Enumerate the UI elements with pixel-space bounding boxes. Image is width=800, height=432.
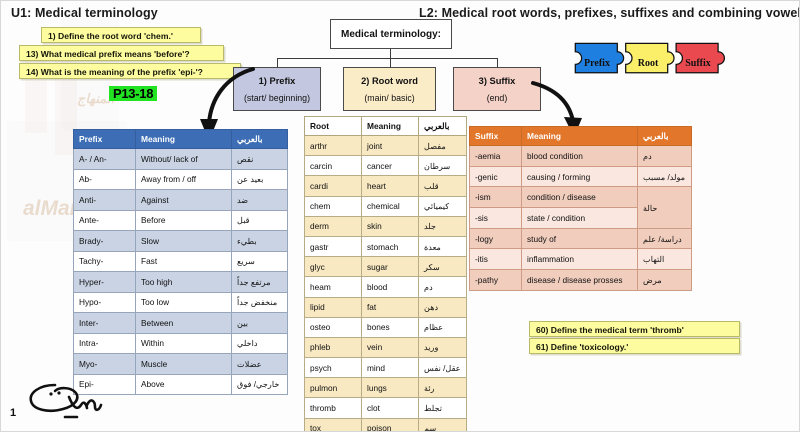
puzzle-label-root: Root xyxy=(638,58,659,69)
cell-arabic: ضد xyxy=(232,190,288,211)
prefix-table-body: A- / An-Without/ lack ofنقصAb-Away from … xyxy=(74,149,288,395)
column-header-meaning: Meaning xyxy=(362,117,419,136)
cell-meaning: study of xyxy=(522,228,638,249)
cell-arabic: خارجي/ فوق xyxy=(232,374,288,395)
cell-term: -pathy xyxy=(470,270,522,291)
cell-arabic: سريع xyxy=(232,251,288,272)
cell-term: derm xyxy=(305,216,362,236)
cell-term: carcin xyxy=(305,156,362,176)
table-row: toxpoisonسم xyxy=(305,418,467,432)
table-row: Inter-Betweenبين xyxy=(74,313,288,334)
cell-arabic: قبل xyxy=(232,210,288,231)
column-header-meaning: Meaning xyxy=(136,130,232,149)
handwritten-signature xyxy=(25,377,111,423)
table-row: Myo-Muscleعضلات xyxy=(74,354,288,375)
cell-arabic: قلب xyxy=(419,176,467,196)
puzzle-label-suffix: Suffix xyxy=(685,58,711,69)
cell-meaning: sugar xyxy=(362,257,419,277)
table-row: Tachy-Fastسريع xyxy=(74,251,288,272)
cell-meaning: heart xyxy=(362,176,419,196)
slide-canvas: alManhaj المنهاج U1: Medical terminology… xyxy=(0,0,800,432)
cell-meaning: mind xyxy=(362,358,419,378)
cell-meaning: chemical xyxy=(362,196,419,216)
table-row: Anti-Againstضد xyxy=(74,190,288,211)
column-header-arabic: بالعربي xyxy=(419,117,467,136)
column-header-prefix: Prefix xyxy=(74,130,136,149)
cell-arabic: تجلط xyxy=(419,398,467,418)
cell-term: Intra- xyxy=(74,333,136,354)
cell-term: -itis xyxy=(470,249,522,270)
table-row: Brady-Slowبطيء xyxy=(74,231,288,252)
table-header-row: Prefix Meaning بالعربي xyxy=(74,130,288,149)
table-row: -pathydisease / disease prossesمرض xyxy=(470,270,692,291)
cell-meaning: joint xyxy=(362,136,419,156)
table-row: chemchemicalكيميائي xyxy=(305,196,467,216)
cell-term: Anti- xyxy=(74,190,136,211)
cell-term: arthr xyxy=(305,136,362,156)
puzzle-label-prefix: Prefix xyxy=(584,58,610,69)
unit-title: U1: Medical terminology xyxy=(11,6,158,20)
suffix-table: Suffix Meaning بالعربي -aemiablood condi… xyxy=(469,126,692,291)
cell-term: thromb xyxy=(305,398,362,418)
column-header-root: Root xyxy=(305,117,362,136)
table-row: lipidfatدهن xyxy=(305,297,467,317)
cell-meaning: Slow xyxy=(136,231,232,252)
connector-drop-suffix xyxy=(497,58,498,67)
flow-node-title: 2) Root word xyxy=(361,76,418,86)
cell-meaning: Away from / off xyxy=(136,169,232,190)
table-row: Hyper-Too highمرتفع جداً xyxy=(74,272,288,293)
flow-node-title: Medical terminology: xyxy=(341,29,441,40)
cell-arabic: منخفض جداً xyxy=(232,292,288,313)
connector-horizontal xyxy=(277,58,498,59)
cell-arabic: داخلي xyxy=(232,333,288,354)
flow-node-prefix[interactable]: 1) Prefix (start/ beginning) xyxy=(233,67,321,111)
table-row: A- / An-Without/ lack ofنقص xyxy=(74,149,288,170)
cell-arabic: بطيء xyxy=(232,231,288,252)
cell-arabic: مولد/ مسبب xyxy=(638,166,692,187)
question-box-1[interactable]: 1) Define the root word 'chem.' xyxy=(41,27,201,43)
cell-meaning: clot xyxy=(362,398,419,418)
table-row: Ante-Beforeقبل xyxy=(74,210,288,231)
table-row: Ab-Away from / offبعيد عن xyxy=(74,169,288,190)
cell-arabic: دم xyxy=(638,146,692,167)
connector-drop-prefix xyxy=(277,58,278,67)
cell-arabic: سكر xyxy=(419,257,467,277)
table-row: Hypo-Too lowمنخفض جداً xyxy=(74,292,288,313)
cell-meaning: causing / forming xyxy=(522,166,638,187)
cell-term: Hypo- xyxy=(74,292,136,313)
cell-term: pulmon xyxy=(305,378,362,398)
cell-arabic: مرتفع جداً xyxy=(232,272,288,293)
cell-arabic: معدة xyxy=(419,236,467,256)
cell-term: -ism xyxy=(470,187,522,208)
cell-meaning: stomach xyxy=(362,236,419,256)
table-row: -logystudy ofدراسة/ علم xyxy=(470,228,692,249)
question-box-14[interactable]: 14) What is the meaning of the prefix 'e… xyxy=(19,63,241,79)
table-row: -geniccausing / formingمولد/ مسبب xyxy=(470,166,692,187)
cell-arabic: دم xyxy=(419,277,467,297)
cell-meaning: skin xyxy=(362,216,419,236)
cell-term: -sis xyxy=(470,208,522,229)
table-header-row: Suffix Meaning بالعربي xyxy=(470,127,692,146)
table-row: -itisinflammationالتهاب xyxy=(470,249,692,270)
table-row: phlebveinوريد xyxy=(305,337,467,357)
cell-arabic: عظام xyxy=(419,317,467,337)
cell-term: gastr xyxy=(305,236,362,256)
cell-meaning: bones xyxy=(362,317,419,337)
puzzle-graphic: Prefix Root Suffix xyxy=(569,29,729,91)
cell-arabic: سرطان xyxy=(419,156,467,176)
cell-meaning: state / condition xyxy=(522,208,638,229)
cell-term: Ab- xyxy=(74,169,136,190)
cell-meaning: Between xyxy=(136,313,232,334)
cell-meaning: Muscle xyxy=(136,354,232,375)
cell-arabic: بعيد عن xyxy=(232,169,288,190)
cell-arabic: سم xyxy=(419,418,467,432)
cell-term: -genic xyxy=(470,166,522,187)
cell-term: Tachy- xyxy=(74,251,136,272)
table-row: osteobonesعظام xyxy=(305,317,467,337)
flow-node-subtitle: (main/ basic) xyxy=(364,93,414,103)
table-row: psychmindعقل/ نفس xyxy=(305,358,467,378)
table-row: pulmonlungsرئة xyxy=(305,378,467,398)
flow-node-subtitle: (end) xyxy=(487,93,508,103)
cell-term: -aemia xyxy=(470,146,522,167)
cell-meaning: Too low xyxy=(136,292,232,313)
page-reference-highlight: P13-18 xyxy=(109,86,157,101)
cell-term: heam xyxy=(305,277,362,297)
table-row: glycsugarسكر xyxy=(305,257,467,277)
cell-arabic: التهاب xyxy=(638,249,692,270)
cell-term: psych xyxy=(305,358,362,378)
table-row: thrombclotتجلط xyxy=(305,398,467,418)
column-header-arabic: بالعربي xyxy=(232,130,288,149)
cell-term: phleb xyxy=(305,337,362,357)
column-header-meaning: Meaning xyxy=(522,127,638,146)
table-row: Intra-Withinداخلي xyxy=(74,333,288,354)
flow-node-subtitle: (start/ beginning) xyxy=(244,93,310,103)
cell-meaning: inflammation xyxy=(522,249,638,270)
table-header-row: Root Meaning بالعربي xyxy=(305,117,467,136)
cell-arabic: دهن xyxy=(419,297,467,317)
table-row: cardiheartقلب xyxy=(305,176,467,196)
cell-term: A- / An- xyxy=(74,149,136,170)
cell-arabic: عقل/ نفس xyxy=(419,358,467,378)
cell-arabic: رئة xyxy=(419,378,467,398)
cell-arabic: نقص xyxy=(232,149,288,170)
suffix-table-body: -aemiablood conditionدم-geniccausing / f… xyxy=(470,146,692,291)
page-number: 1 xyxy=(10,407,16,419)
prefix-table: Prefix Meaning بالعربي A- / An-Without/ … xyxy=(73,129,288,395)
column-header-arabic: بالعربي xyxy=(638,127,692,146)
question-box-61[interactable]: 61) Define 'toxicology.' xyxy=(529,338,740,354)
cell-term: cardi xyxy=(305,176,362,196)
question-box-13[interactable]: 13) What medical prefix means 'before'? xyxy=(19,45,224,61)
cell-arabic: مفصل xyxy=(419,136,467,156)
cell-arabic: حالة xyxy=(638,187,692,228)
cell-term: chem xyxy=(305,196,362,216)
cell-arabic: جلد xyxy=(419,216,467,236)
cell-meaning: Above xyxy=(136,374,232,395)
cell-term: tox xyxy=(305,418,362,432)
cell-term: lipid xyxy=(305,297,362,317)
flow-node-root-word[interactable]: 2) Root word (main/ basic) xyxy=(343,67,436,111)
cell-meaning: Too high xyxy=(136,272,232,293)
cell-meaning: Before xyxy=(136,210,232,231)
cell-term: glyc xyxy=(305,257,362,277)
cell-meaning: condition / disease xyxy=(522,187,638,208)
connector-drop-root xyxy=(390,58,391,67)
cell-term: Myo- xyxy=(74,354,136,375)
cell-term: Hyper- xyxy=(74,272,136,293)
table-row: arthrjointمفصل xyxy=(305,136,467,156)
cell-meaning: Against xyxy=(136,190,232,211)
table-row: heambloodدم xyxy=(305,277,467,297)
cell-meaning: blood condition xyxy=(522,146,638,167)
column-header-suffix: Suffix xyxy=(470,127,522,146)
cell-arabic: كيميائي xyxy=(419,196,467,216)
table-row: -aemiablood conditionدم xyxy=(470,146,692,167)
lesson-title: L2: Medical root words, prefixes, suffix… xyxy=(419,6,800,20)
cell-meaning: blood xyxy=(362,277,419,297)
question-box-60[interactable]: 60) Define the medical term 'thromb' xyxy=(529,321,740,337)
table-row: dermskinجلد xyxy=(305,216,467,236)
cell-arabic: مرض xyxy=(638,270,692,291)
flow-node-suffix[interactable]: 3) Suffix (end) xyxy=(453,67,541,111)
root-table-body: arthrjointمفصلcarcincancerسرطانcardihear… xyxy=(305,136,467,432)
cell-meaning: fat xyxy=(362,297,419,317)
cell-meaning: poison xyxy=(362,418,419,432)
cell-meaning: vein xyxy=(362,337,419,357)
cell-meaning: lungs xyxy=(362,378,419,398)
cell-term: Brady- xyxy=(74,231,136,252)
root-table: Root Meaning بالعربي arthrjointمفصلcarci… xyxy=(304,116,467,432)
flow-node-title: 3) Suffix xyxy=(479,76,516,86)
cell-term: -logy xyxy=(470,228,522,249)
cell-arabic: عضلات xyxy=(232,354,288,375)
cell-arabic: وريد xyxy=(419,337,467,357)
cell-meaning: Fast xyxy=(136,251,232,272)
cell-term: osteo xyxy=(305,317,362,337)
cell-meaning: disease / disease prosses xyxy=(522,270,638,291)
cell-arabic: دراسة/ علم xyxy=(638,228,692,249)
table-row: gastrstomachمعدة xyxy=(305,236,467,256)
table-row: -ismcondition / diseaseحالة xyxy=(470,187,692,208)
cell-meaning: Without/ lack of xyxy=(136,149,232,170)
cell-term: Ante- xyxy=(74,210,136,231)
flow-node-title: 1) Prefix xyxy=(259,76,296,86)
cell-meaning: Within xyxy=(136,333,232,354)
cell-arabic: بين xyxy=(232,313,288,334)
table-row: carcincancerسرطان xyxy=(305,156,467,176)
cell-term: Inter- xyxy=(74,313,136,334)
cell-meaning: cancer xyxy=(362,156,419,176)
flow-node-medical-terminology[interactable]: Medical terminology: xyxy=(330,19,452,49)
